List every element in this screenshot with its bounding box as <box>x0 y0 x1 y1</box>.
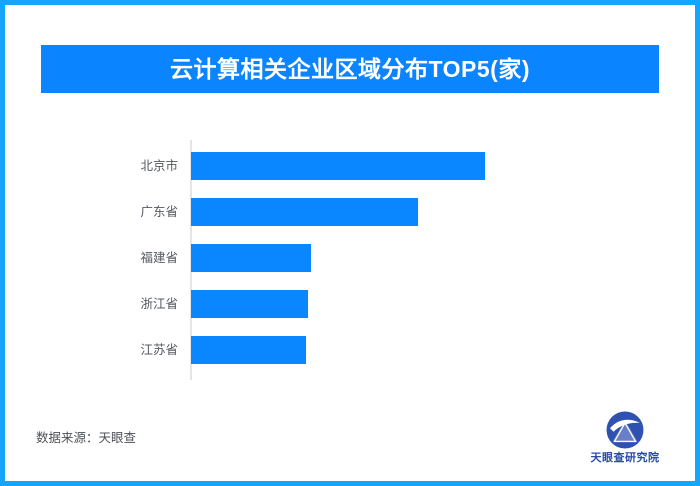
bar-category-label: 北京市 <box>60 160 178 173</box>
tianyancha-logo-icon <box>603 408 647 452</box>
bar-fill <box>191 152 485 180</box>
bar-category-label: 浙江省 <box>60 298 178 311</box>
bar-fill <box>191 244 311 272</box>
bar-track <box>191 336 306 364</box>
bar-track <box>191 290 308 318</box>
infographic-canvas: 云计算相关企业区域分布TOP5(家) 北京市广东省福建省浙江省江苏省 数据来源：… <box>0 0 700 486</box>
bar-chart: 北京市广东省福建省浙江省江苏省 <box>0 120 700 380</box>
bar-category-label: 江苏省 <box>60 344 178 357</box>
bar-row: 江苏省 <box>0 327 700 373</box>
bar-row: 北京市 <box>0 143 700 189</box>
bar-row: 浙江省 <box>0 281 700 327</box>
frame-border-top <box>0 0 700 5</box>
bar-track <box>191 152 485 180</box>
page-title: 云计算相关企业区域分布TOP5(家) <box>170 58 530 81</box>
title-banner: 云计算相关企业区域分布TOP5(家) <box>41 45 659 93</box>
brand-logo-label: 天眼查研究院 <box>591 453 660 464</box>
bar-fill <box>191 198 418 226</box>
bar-category-label: 福建省 <box>60 252 178 265</box>
data-source-note: 数据来源：天眼查 <box>36 432 136 445</box>
frame-border-bottom <box>0 481 700 486</box>
bar-fill <box>191 290 308 318</box>
bar-fill <box>191 336 306 364</box>
bar-row: 广东省 <box>0 189 700 235</box>
bar-category-label: 广东省 <box>60 206 178 219</box>
bar-row: 福建省 <box>0 235 700 281</box>
bar-track <box>191 244 311 272</box>
brand-logo: 天眼查研究院 <box>575 408 675 474</box>
bar-track <box>191 198 418 226</box>
